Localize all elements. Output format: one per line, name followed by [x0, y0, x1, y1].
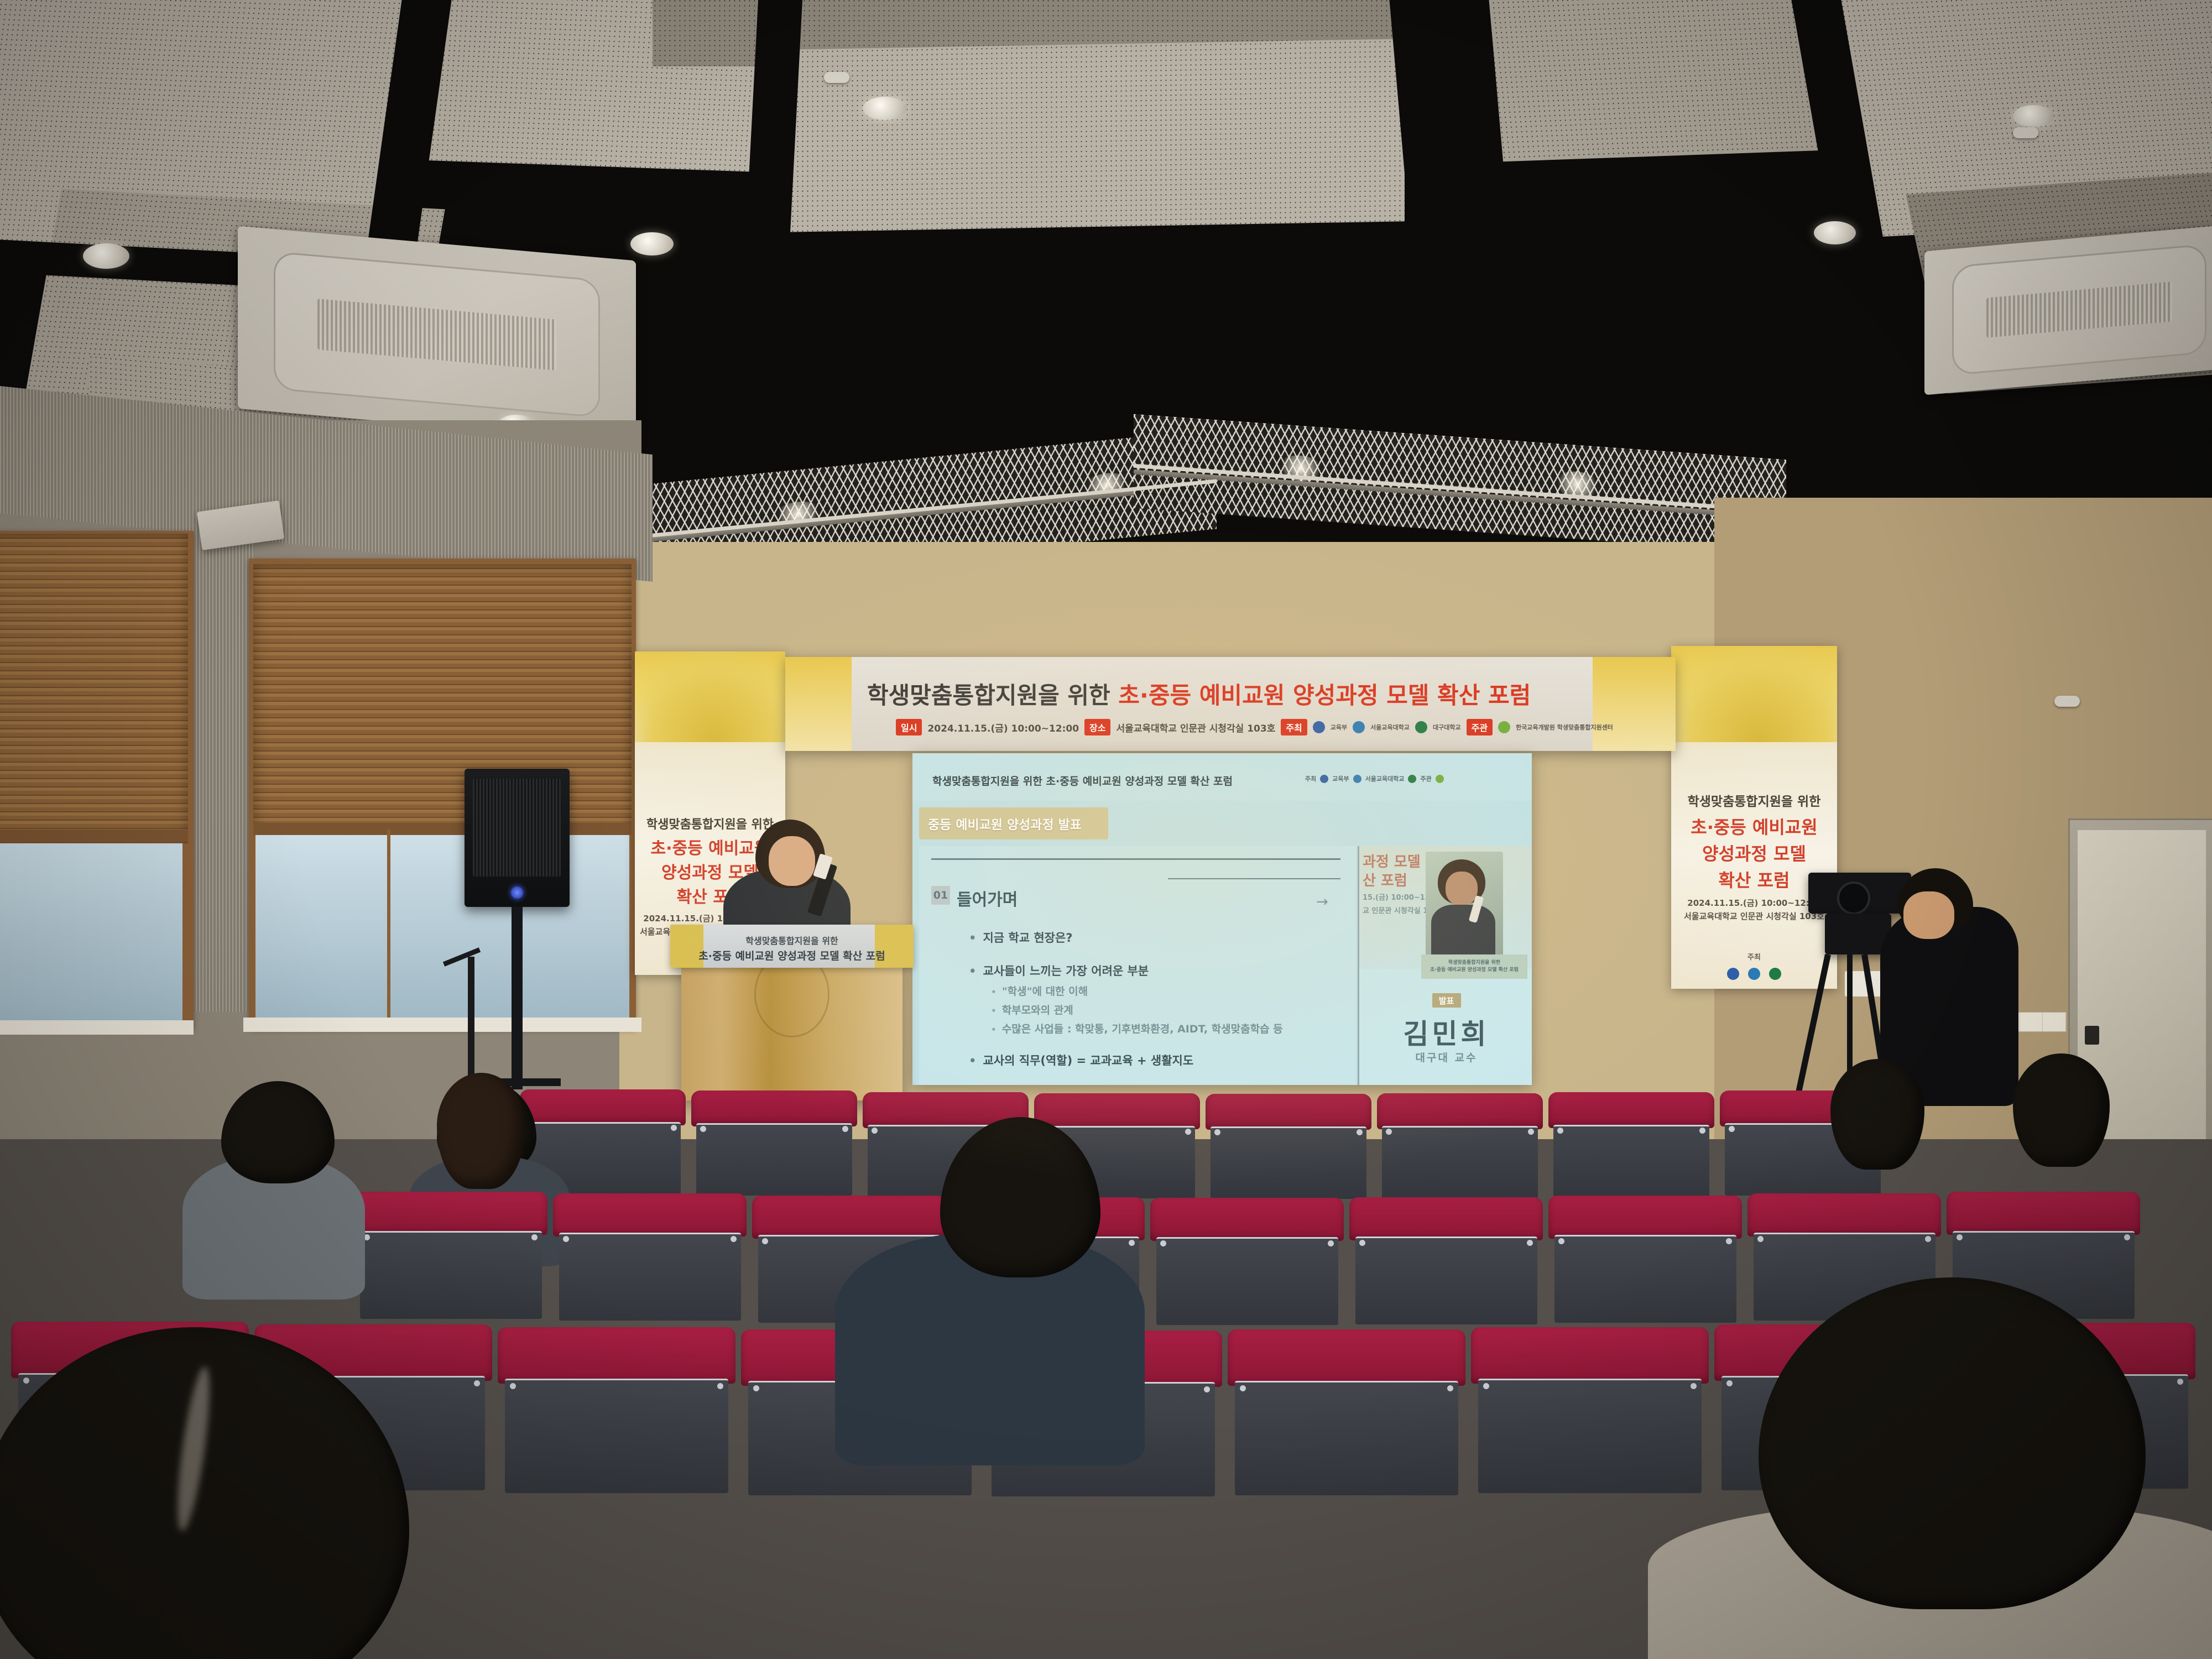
seat[interactable] [498, 1327, 735, 1493]
snue-logo-icon [1353, 721, 1365, 733]
org-name: 서울교육대학교 [1365, 774, 1405, 783]
host-label: 주최 [1305, 774, 1316, 783]
ministry-logo-icon [1313, 721, 1325, 733]
videographer-face [1903, 891, 1954, 939]
slide-bullet: 중등 교원양성기관에서는, 예비교원이 어떻게 준비하도록 지원해야 하는가? [969, 1083, 1332, 1085]
audience-head [1830, 1059, 1924, 1170]
kedi-logo-icon [1498, 721, 1510, 733]
organizer-label-chip: 주관 [1467, 719, 1493, 735]
organizer-label: 주관 [1420, 774, 1431, 783]
podium-sign-line2: 초·중등 예비교원 양성과정 모델 확산 포럼 [670, 948, 914, 963]
host-label-chip: 주최 [1281, 719, 1307, 735]
podium-sign-line1: 학생맞춤통합지원을 위한 [670, 933, 914, 947]
seat[interactable] [553, 1193, 747, 1321]
main-banner-meta: 일시 2024.11.15.(금) 10:00~12:00 장소 서울교육대학교… [896, 719, 1613, 735]
seat[interactable] [1206, 1094, 1371, 1199]
slide-right-panel: 과정 모델 산 포럼 15.(금) 10:00~12 교 인문관 시청각실 1 … [1358, 846, 1532, 1085]
poster-date: 15.(금) 10:00~12 [1363, 891, 1430, 902]
window-glass [0, 818, 182, 1023]
speaker-affiliation: 대구대 교수 [1359, 1050, 1532, 1065]
slide-header-title: 학생맞춤통합지원을 위한 초·중등 예비교원 양성과정 모델 확산 포럼 [932, 773, 1233, 788]
ministry-logo-icon [1320, 775, 1328, 783]
camera-lens-icon [1837, 881, 1870, 915]
side-banner-right: 학생맞춤통합지원을 위한 초·중등 예비교원 양성과정 모델 확산 포럼 202… [1671, 646, 1837, 989]
org-logo-icon [1748, 968, 1760, 980]
audience-head [437, 1073, 525, 1189]
presenter-face [769, 836, 815, 886]
host-name: 서울교육대학교 [1370, 723, 1410, 732]
podium-sign: 학생맞춤통합지원을 위한 초·중등 예비교원 양성과정 모델 확산 포럼 [670, 925, 914, 968]
speaker-name: 김민희 [1359, 1012, 1532, 1052]
main-banner-highlight: 초·중등 예비교원 양성과정 모델 확산 포럼 [1118, 682, 1531, 709]
poster-place: 교 인문관 시청각실 1 [1363, 905, 1428, 915]
slide-bullet: 학부모와의 관계 [991, 1002, 1073, 1017]
org-name: 교육부 [1332, 774, 1349, 783]
main-banner: 학생맞춤통합지원을 위한 초·중등 예비교원 양성과정 모델 확산 포럼 일시 … [785, 657, 1676, 751]
slide-bullet: 지금 학교 현장은? [969, 929, 1072, 946]
slide-section-title: 들어가며 [957, 886, 1018, 910]
daegu-logo-icon [1415, 721, 1427, 733]
speaker-stand [512, 907, 523, 1089]
side-banner-line2: 초·중등 예비교원 [1671, 816, 1837, 838]
side-banner-line1: 학생맞춤통합지원을 위한 [1671, 794, 1837, 810]
seat[interactable] [1548, 1196, 1742, 1323]
window-blinds[interactable] [253, 564, 632, 835]
auditorium-photo: 학생맞춤통합지원을 위한 초·중등 예비교원 양성과정 모델 확산 포럼 202… [0, 0, 2212, 1659]
poster-title-b: 산 포럼 [1363, 869, 1407, 890]
pa-speaker [465, 769, 570, 907]
slide-section-number: 01 [931, 886, 950, 905]
poster-caption-2: 초·중등 예비교원 양성과정 모델 확산 포럼 [1430, 967, 1519, 974]
host-name: 교육부 [1331, 723, 1347, 732]
side-banner-line1: 학생맞춤통합지원을 위한 [635, 817, 785, 833]
arrow-right-icon: → [1316, 894, 1328, 910]
audience-head [2013, 1053, 2110, 1167]
org-logo-icon [1769, 968, 1781, 980]
seat[interactable] [1377, 1093, 1543, 1198]
organizer-name: 한국교육개발원 학생맞춤통합지원센터 [1516, 723, 1613, 732]
slide-bullet: 교사들이 느끼는 가장 어려운 부분 [969, 962, 1149, 979]
date-label-chip: 일시 [896, 719, 922, 735]
host-name: 대구대학교 [1433, 723, 1461, 732]
kedi-logo-icon [1436, 775, 1444, 783]
seat[interactable] [354, 1192, 547, 1319]
light-switch[interactable] [2085, 1026, 2099, 1045]
ac-unit [238, 226, 636, 444]
slide-header-orgs: 주최 교육부 서울교육대학교 주관 [1305, 774, 1444, 783]
daegu-logo-icon [1408, 775, 1416, 783]
org-logo-icon [1727, 968, 1739, 980]
slide-bullet: "학생"에 대한 이해 [991, 983, 1088, 998]
date-value: 2024.11.15.(금) 10:00~12:00 [927, 721, 1079, 734]
slide-bullet: 교사의 직무(역할) = 교과교육 + 생활지도 [969, 1052, 1193, 1068]
window-blinds[interactable] [0, 534, 188, 843]
seat[interactable] [1349, 1197, 1543, 1324]
slide-bullet: 수많은 사업들 : 학맞통, 기후변화환경, AIDT, 학생맞춤학습 등 [991, 1021, 1283, 1036]
projection-screen: 학생맞춤통합지원을 위한 초·중등 예비교원 양성과정 모델 확산 포럼 주최 … [912, 753, 1532, 1085]
side-banner-host-label: 주최 [1671, 953, 1837, 962]
seat[interactable] [1548, 1092, 1714, 1197]
ac-unit [1924, 225, 2212, 395]
main-banner-prefix: 학생맞춤통합지원을 위한 [867, 682, 1110, 709]
smoke-detector-icon [2054, 696, 2080, 707]
slide-section-tab: 중등 예비교원 양성과정 발표 [919, 807, 1108, 839]
snue-logo-icon [1353, 775, 1361, 783]
main-banner-title: 학생맞춤통합지원을 위한 초·중등 예비교원 양성과정 모델 확산 포럼 [867, 677, 1531, 711]
place-label-chip: 장소 [1084, 719, 1110, 735]
poster-title-a: 과정 모델 [1363, 851, 1421, 871]
speaker-photo [1426, 852, 1503, 957]
place-value: 서울교육대학교 인문관 시청각실 103호 [1116, 721, 1275, 734]
speaker-role-chip: 발표 [1432, 993, 1461, 1008]
seat[interactable] [691, 1091, 857, 1196]
poster-caption-1: 학생맞춤통합지원을 위한 [1448, 959, 1500, 967]
seat[interactable] [1150, 1198, 1344, 1325]
seat[interactable] [1228, 1329, 1465, 1495]
window-glass [255, 830, 629, 1023]
seat[interactable] [1471, 1327, 1709, 1493]
side-banner-line3: 양성과정 모델 [1671, 843, 1837, 865]
